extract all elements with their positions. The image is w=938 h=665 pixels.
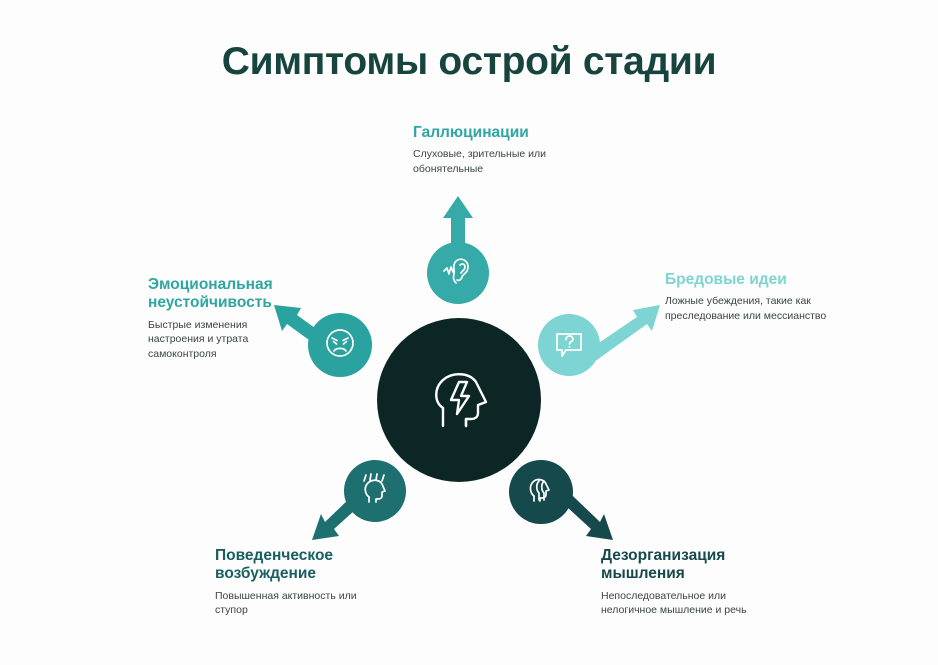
label-behavioral-agitation: Поведенческое возбуждение Повышенная акт…: [215, 547, 385, 618]
speech-bubble-question-icon: [551, 325, 587, 366]
label-delusional-ideas: Бредовые идеи Ложные убеждения, такие ка…: [665, 271, 835, 323]
label-heading: Бредовые идеи: [665, 271, 835, 289]
node-behavioral-agitation[interactable]: [344, 460, 406, 522]
node-disorganized-thinking[interactable]: [509, 460, 573, 524]
node-hallucinations[interactable]: [427, 242, 489, 304]
label-heading: Галлюцинации: [413, 124, 588, 142]
label-disorganized-thinking: Дезорганизация мышления Непоследовательн…: [601, 547, 776, 618]
node-delusional-ideas[interactable]: [538, 314, 600, 376]
infographic-canvas: Симптомы острой стадии: [0, 0, 938, 665]
label-hallucinations: Галлюцинации Слуховые, зрительные или об…: [413, 124, 588, 176]
label-heading: Эмоциональная неустойчивость: [148, 276, 288, 313]
label-description: Непоследовательное или нелогичное мышлен…: [601, 589, 776, 618]
head-lightning-icon: [421, 360, 497, 441]
agitated-head-icon: [357, 471, 393, 512]
node-emotional-instability[interactable]: [308, 313, 372, 377]
label-description: Ложные убеждения, такие как преследовани…: [665, 294, 835, 323]
label-description: Повышенная активность или ступор: [215, 589, 385, 618]
label-description: Быстрые изменения настроения и утрата са…: [148, 318, 288, 361]
label-heading: Дезорганизация мышления: [601, 547, 776, 584]
ear-soundwave-icon: [440, 253, 476, 294]
label-heading: Поведенческое возбуждение: [215, 547, 385, 584]
label-description: Слуховые, зрительные или обонятельные: [413, 147, 588, 176]
two-heads-icon: [522, 471, 560, 514]
label-emotional-instability: Эмоциональная неустойчивость Быстрые изм…: [148, 276, 288, 361]
sad-face-icon: [321, 324, 359, 367]
central-hub: [377, 318, 541, 482]
